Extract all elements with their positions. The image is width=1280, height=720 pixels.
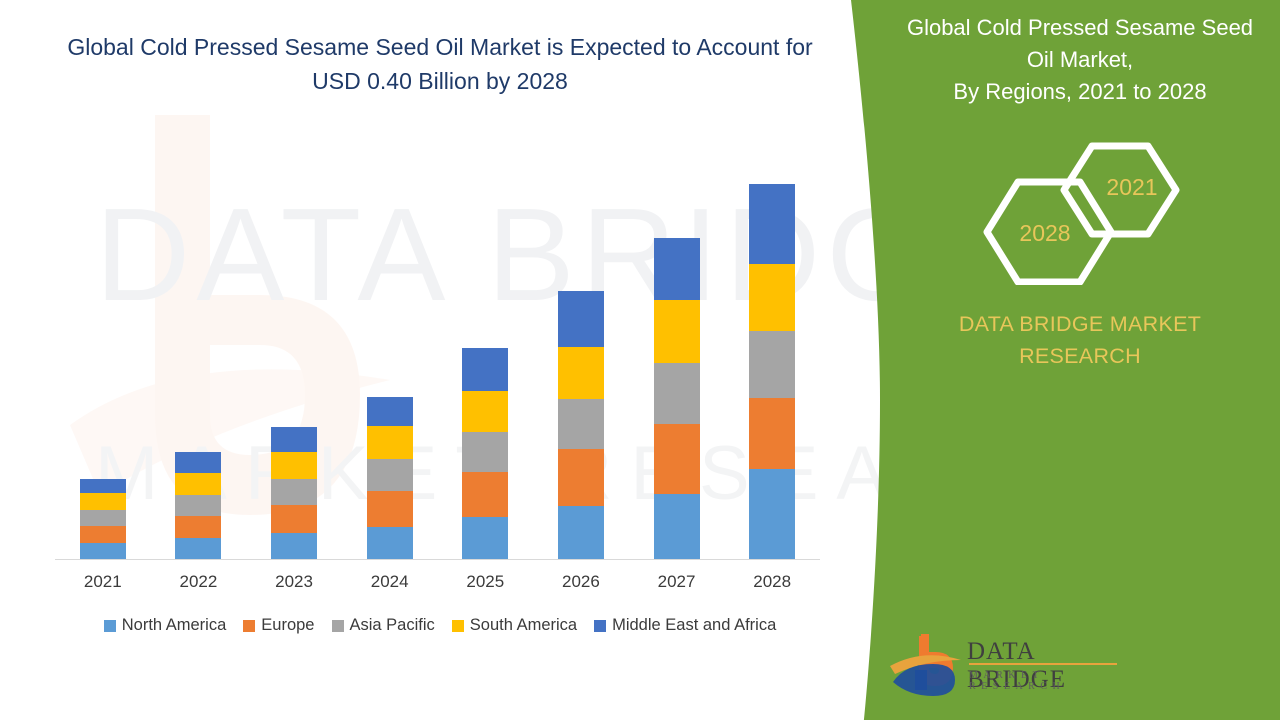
x-axis-tick-label: 2023 xyxy=(254,572,334,592)
hexagon-year-badges: 2021 2028 xyxy=(980,140,1190,285)
legend-swatch xyxy=(104,620,116,632)
legend-label: North America xyxy=(122,616,227,635)
bar-segment xyxy=(175,473,221,495)
panel-title-line-2: Oil Market, xyxy=(886,44,1274,76)
x-axis-tick-label: 2025 xyxy=(445,572,525,592)
legend-swatch xyxy=(332,620,344,632)
bar-segment xyxy=(749,469,795,559)
chart-panel: DATA BRIDGE MARKET RESEARCH Global Cold … xyxy=(0,0,880,720)
bar-segment xyxy=(654,300,700,363)
panel-title: Global Cold Pressed Sesame Seed Oil Mark… xyxy=(880,12,1280,108)
bar-segment xyxy=(271,533,317,559)
logo-underline xyxy=(969,663,1117,666)
bar-segment xyxy=(558,291,604,347)
legend-item[interactable]: Asia Pacific xyxy=(332,616,435,635)
legend-swatch xyxy=(594,620,606,632)
x-axis-tick-label: 2021 xyxy=(63,572,143,592)
brand-name-line-1: DATA BRIDGE MARKET xyxy=(880,308,1280,340)
bar-column xyxy=(175,452,221,559)
bar-segment xyxy=(367,426,413,459)
bar-segment xyxy=(654,363,700,424)
hexagon-2028-label: 2028 xyxy=(1002,220,1088,247)
bar-segment xyxy=(80,543,126,559)
legend-swatch xyxy=(243,620,255,632)
legend-item[interactable]: North America xyxy=(104,616,227,635)
green-panel-content: Global Cold Pressed Sesame Seed Oil Mark… xyxy=(880,0,1280,720)
brand-name-line-2: RESEARCH xyxy=(880,340,1280,372)
bar-column xyxy=(654,238,700,559)
bar-segment xyxy=(271,452,317,479)
bar-column xyxy=(558,291,604,559)
legend-swatch xyxy=(452,620,464,632)
bar-segment xyxy=(175,495,221,516)
bar-segment xyxy=(558,506,604,559)
bar-segment xyxy=(654,238,700,300)
bar-segment xyxy=(271,427,317,452)
x-axis-tick-label: 2024 xyxy=(350,572,430,592)
bar-segment xyxy=(462,348,508,391)
x-axis-labels: 20212022202320242025202620272028 xyxy=(55,572,820,602)
bar-segment xyxy=(80,493,126,510)
legend-item[interactable]: Middle East and Africa xyxy=(594,616,776,635)
bar-column xyxy=(749,184,795,559)
bar-segment xyxy=(654,494,700,559)
bar-segment xyxy=(80,526,126,543)
x-axis-tick-label: 2022 xyxy=(158,572,238,592)
databridge-b-icon xyxy=(885,630,965,700)
bar-segment xyxy=(462,472,508,517)
bar-column xyxy=(80,479,126,559)
bar-segment xyxy=(558,399,604,449)
x-axis-tick-label: 2028 xyxy=(732,572,812,592)
bar-segment xyxy=(749,264,795,331)
bar-segment xyxy=(367,459,413,491)
panel-title-line-1: Global Cold Pressed Sesame Seed xyxy=(886,12,1274,44)
stacked-bar-chart xyxy=(55,170,820,560)
bar-segment xyxy=(367,527,413,559)
logo-text-sub: MARKET RESEARCH xyxy=(969,670,1125,692)
hexagon-outlines xyxy=(980,140,1190,285)
legend-label: South America xyxy=(470,616,577,635)
panel-title-line-3: By Regions, 2021 to 2028 xyxy=(886,76,1274,108)
bar-segment xyxy=(271,505,317,533)
bar-segment xyxy=(749,398,795,469)
legend-label: Asia Pacific xyxy=(350,616,435,635)
databridge-logo: DATA BRIDGE MARKET RESEARCH xyxy=(885,630,1125,702)
bar-segment xyxy=(175,516,221,538)
bar-segment xyxy=(654,424,700,494)
infographic-root: DATA BRIDGE MARKET RESEARCH Global Cold … xyxy=(0,0,1280,720)
bar-segment xyxy=(367,491,413,527)
legend-label: Europe xyxy=(261,616,314,635)
chart-legend: North AmericaEuropeAsia PacificSouth Ame… xyxy=(55,616,825,635)
x-axis-tick-label: 2027 xyxy=(637,572,717,592)
bar-segment xyxy=(80,510,126,526)
bar-column xyxy=(271,427,317,559)
bar-segment xyxy=(175,452,221,473)
bar-segment xyxy=(367,397,413,426)
legend-item[interactable]: Europe xyxy=(243,616,314,635)
x-axis-tick-label: 2026 xyxy=(541,572,621,592)
bar-segment xyxy=(558,347,604,399)
legend-item[interactable]: South America xyxy=(452,616,577,635)
bar-segment xyxy=(558,449,604,506)
hexagon-2021-label: 2021 xyxy=(1092,174,1172,201)
brand-name: DATA BRIDGE MARKET RESEARCH xyxy=(880,308,1280,372)
bar-segment xyxy=(462,432,508,472)
bar-segment xyxy=(175,538,221,559)
x-axis-line xyxy=(55,559,820,560)
bar-segment xyxy=(462,517,508,559)
bar-segment xyxy=(271,479,317,505)
bar-column xyxy=(462,348,508,559)
bar-segment xyxy=(462,391,508,432)
bar-segment xyxy=(80,479,126,493)
page-title: Global Cold Pressed Sesame Seed Oil Mark… xyxy=(40,30,840,98)
bar-segment xyxy=(749,184,795,264)
bar-segment xyxy=(749,331,795,398)
legend-label: Middle East and Africa xyxy=(612,616,776,635)
bar-column xyxy=(367,397,413,559)
